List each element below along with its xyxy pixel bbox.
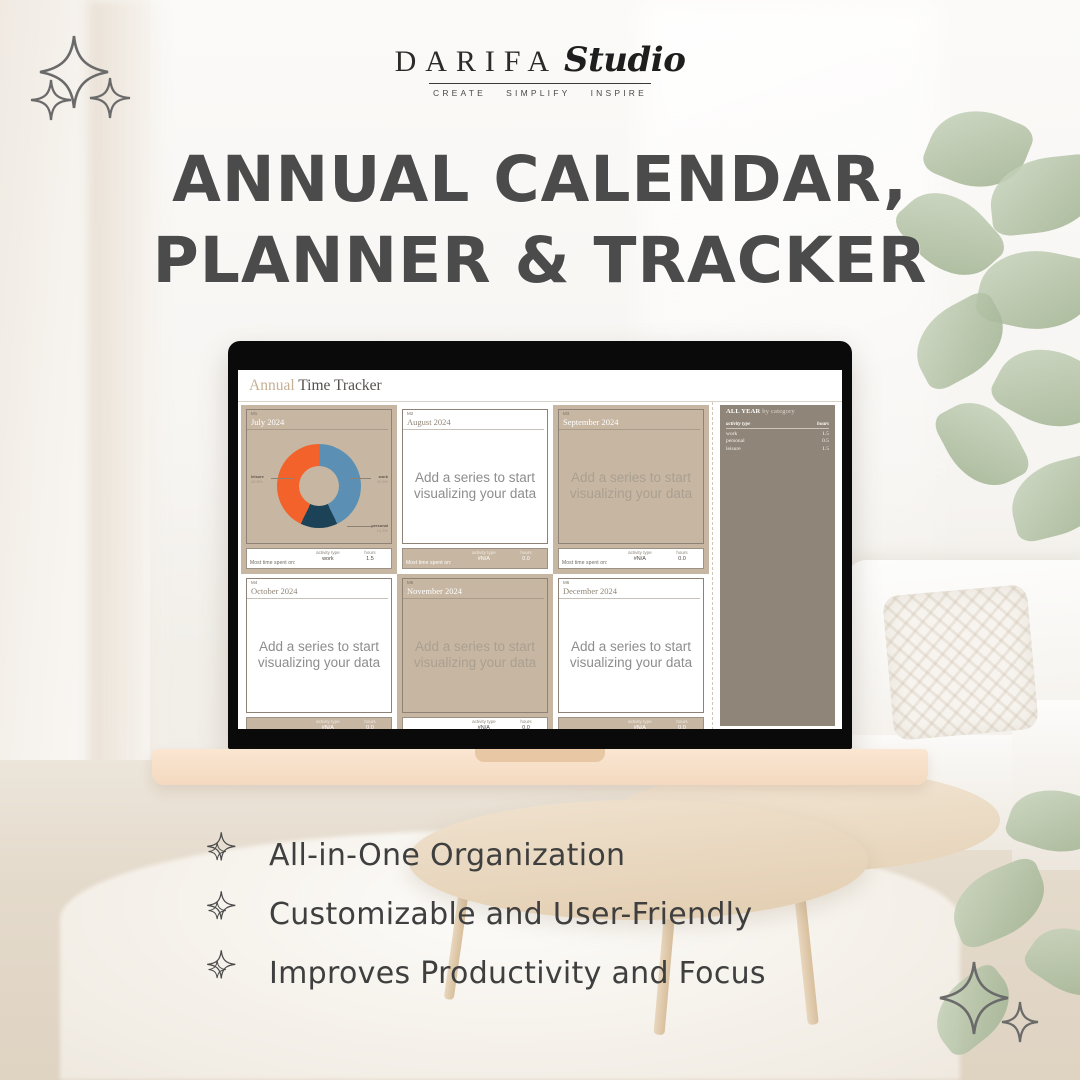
- footer-activity-type: activity type #N/A: [619, 549, 661, 568]
- laptop-notch: [475, 749, 605, 762]
- month-card[interactable]: M4 October 2024 Add a series to start vi…: [241, 574, 397, 729]
- footer-col-value: #N/A: [307, 725, 349, 729]
- footer-hours: hours 0.0: [505, 718, 547, 729]
- footer-label: Most time spent on:: [403, 549, 463, 568]
- table-row: work 1.5: [726, 429, 829, 437]
- table-row: personal 0.5: [726, 437, 829, 445]
- chart-placeholder-text: Add a series to start visualizing your d…: [403, 599, 547, 713]
- cell-hours: 1.5: [795, 429, 829, 437]
- cell-hours: 0.5: [795, 437, 829, 445]
- month-summary-footer: Most time spent on: activity type #N/A h…: [558, 717, 704, 729]
- tagline-inspire: INSPIRE: [591, 88, 647, 98]
- logo-tagline: CREATE SIMPLIFY INSPIRE: [433, 88, 647, 98]
- footer-activity-type: activity type #N/A: [619, 718, 661, 729]
- donut-leader-line: [271, 478, 293, 479]
- footer-hours: hours 0.0: [661, 718, 703, 729]
- spreadsheet-app[interactable]: Annual Time Tracker M1 July 2024 leisure…: [238, 370, 842, 729]
- chart-placeholder-text: Add a series to start visualizing your d…: [247, 599, 391, 713]
- cell-activity-type: work: [726, 429, 795, 437]
- feature-item: Customizable and User-Friendly: [205, 891, 766, 938]
- footer-label: Most time spent on:: [403, 718, 463, 729]
- chart-container[interactable]: M6 December 2024 Add a series to start v…: [558, 578, 704, 713]
- chart-container[interactable]: M3 September 2024 Add a series to start …: [558, 409, 704, 544]
- brand-logo: DARIFA Studio CREATE SIMPLIFY INSPIRE: [0, 40, 1080, 98]
- footer-col-value: 0.0: [661, 725, 703, 729]
- footer-col-value: #N/A: [619, 556, 661, 563]
- footer-activity-type: activity type #N/A: [463, 718, 505, 729]
- all-year-table: activity type hours work 1.5personal 0.5…: [726, 422, 829, 452]
- chart-placeholder-text: Add a series to start visualizing your d…: [559, 430, 703, 544]
- month-name-label: October 2024: [247, 586, 388, 599]
- month-summary-footer: Most time spent on: activity type #N/A h…: [558, 548, 704, 569]
- footer-col-value: 0.0: [661, 556, 703, 563]
- footer-col-value: 0.0: [505, 556, 547, 563]
- chart-placeholder-text: Add a series to start visualizing your d…: [559, 599, 703, 713]
- footer-col-value: 1.5: [349, 556, 391, 563]
- all-year-header: ALL YEAR by category: [720, 405, 835, 418]
- page-title: ANNUAL CALENDAR, PLANNER & TRACKER: [0, 140, 1080, 301]
- footer-col-value: 0.0: [349, 725, 391, 729]
- pillow: [882, 584, 1039, 741]
- footer-col-value: work: [307, 556, 349, 563]
- month-summary-footer: Most time spent on: activity type work h…: [246, 548, 392, 569]
- summary-sidebar: ALL YEAR by category activity type hours: [717, 402, 839, 729]
- footer-hours: hours 0.0: [349, 718, 391, 729]
- month-card[interactable]: M5 November 2024 Add a series to start v…: [397, 574, 553, 729]
- feature-list: All-in-One Organization Customizable and…: [205, 832, 766, 997]
- donut-label-personal: personal14.3%: [371, 523, 388, 533]
- sparkle-decoration-bottom-right: [928, 958, 1040, 1050]
- month-card-grid: M1 July 2024 leisure42.9% work42.9% pers…: [238, 402, 710, 729]
- chart-container[interactable]: M1 July 2024 leisure42.9% work42.9% pers…: [246, 409, 392, 544]
- month-summary-footer: Most time spent on: activity type #N/A h…: [246, 717, 392, 729]
- footer-col-value: #N/A: [619, 725, 661, 729]
- headline-line-1: ANNUAL CALENDAR,: [0, 140, 1080, 221]
- sparkle-bullet-icon: [205, 950, 247, 997]
- tagline-create: CREATE: [433, 88, 486, 98]
- footer-activity-type: activity type #N/A: [463, 549, 505, 568]
- footer-label: Most time spent on:: [559, 549, 619, 568]
- feature-label: All-in-One Organization: [269, 838, 625, 873]
- sheet-body: M1 July 2024 leisure42.9% work42.9% pers…: [238, 402, 842, 729]
- feature-item: Improves Productivity and Focus: [205, 950, 766, 997]
- chart-container[interactable]: M4 October 2024 Add a series to start vi…: [246, 578, 392, 713]
- month-summary-footer: Most time spent on: activity type #N/A h…: [402, 548, 548, 569]
- footer-label: Most time spent on:: [559, 718, 619, 729]
- footer-col-value: 0.0: [505, 725, 547, 729]
- footer-label: Most time spent on:: [247, 549, 307, 568]
- app-title-accent: Annual: [249, 377, 295, 394]
- chart-container[interactable]: M2 August 2024 Add a series to start vis…: [402, 409, 548, 544]
- tagline-simplify: SIMPLIFY: [506, 88, 570, 98]
- footer-col-value: #N/A: [463, 725, 505, 729]
- sparkle-bullet-icon: [205, 832, 247, 879]
- cell-hours: 1.5: [795, 444, 829, 452]
- feature-label: Customizable and User-Friendly: [269, 897, 752, 932]
- month-summary-footer: Most time spent on: activity type #N/A h…: [402, 717, 548, 729]
- laptop-base: [152, 749, 928, 785]
- footer-activity-type: activity type #N/A: [307, 718, 349, 729]
- footer-activity-type: activity type work: [307, 549, 349, 568]
- sparkle-icon: [205, 832, 247, 874]
- logo-wordmark: DARIFA Studio: [395, 40, 686, 80]
- all-year-subtitle: by category: [762, 408, 795, 415]
- month-name-label: August 2024: [403, 417, 544, 430]
- donut-label-work: work42.9%: [377, 474, 388, 484]
- sparkle-bullet-icon: [205, 891, 247, 938]
- month-card[interactable]: M1 July 2024 leisure42.9% work42.9% pers…: [241, 405, 397, 574]
- logo-divider: [429, 83, 651, 84]
- app-title-rest: Time Tracker: [298, 377, 381, 394]
- donut-leader-line: [349, 478, 371, 479]
- month-name-label: September 2024: [559, 417, 700, 430]
- laptop-mockup: Annual Time Tracker M1 July 2024 leisure…: [228, 341, 852, 749]
- donut-label-leisure: leisure42.9%: [251, 474, 264, 484]
- table-row: leisure 1.5: [726, 444, 829, 452]
- footer-label: Most time spent on:: [247, 718, 307, 729]
- feature-label: Improves Productivity and Focus: [269, 956, 766, 991]
- month-card[interactable]: M2 August 2024 Add a series to start vis…: [397, 405, 553, 574]
- month-card[interactable]: M6 December 2024 Add a series to start v…: [553, 574, 709, 729]
- logo-name: DARIFA: [395, 45, 558, 79]
- month-name-label: December 2024: [559, 586, 700, 599]
- all-year-panel: activity type hours work 1.5personal 0.5…: [720, 418, 835, 726]
- cell-activity-type: personal: [726, 437, 795, 445]
- footer-col-value: #N/A: [463, 556, 505, 563]
- donut-chart[interactable]: leisure42.9% work42.9% personal14.3%: [247, 430, 391, 544]
- footer-hours: hours 1.5: [349, 549, 391, 568]
- donut-hole: [299, 466, 339, 506]
- donut-leader-line: [347, 526, 373, 527]
- sparkle-icon: [205, 891, 247, 933]
- footer-hours: hours 0.0: [505, 549, 547, 568]
- month-card[interactable]: M3 September 2024 Add a series to start …: [553, 405, 709, 574]
- sparkle-icon: [205, 950, 247, 992]
- all-year-title: ALL YEAR: [726, 408, 760, 415]
- app-title-bar: Annual Time Tracker: [238, 370, 842, 402]
- headline-line-2: PLANNER & TRACKER: [0, 221, 1080, 302]
- month-name-label: July 2024: [247, 417, 388, 430]
- feature-item: All-in-One Organization: [205, 832, 766, 879]
- logo-script: Studio: [564, 40, 685, 80]
- footer-hours: hours 0.0: [661, 549, 703, 568]
- chart-container[interactable]: M5 November 2024 Add a series to start v…: [402, 578, 548, 713]
- cell-activity-type: leisure: [726, 444, 795, 452]
- month-name-label: November 2024: [403, 586, 544, 599]
- chart-placeholder-text: Add a series to start visualizing your d…: [403, 430, 547, 544]
- laptop-screen-bezel: Annual Time Tracker M1 July 2024 leisure…: [228, 341, 852, 749]
